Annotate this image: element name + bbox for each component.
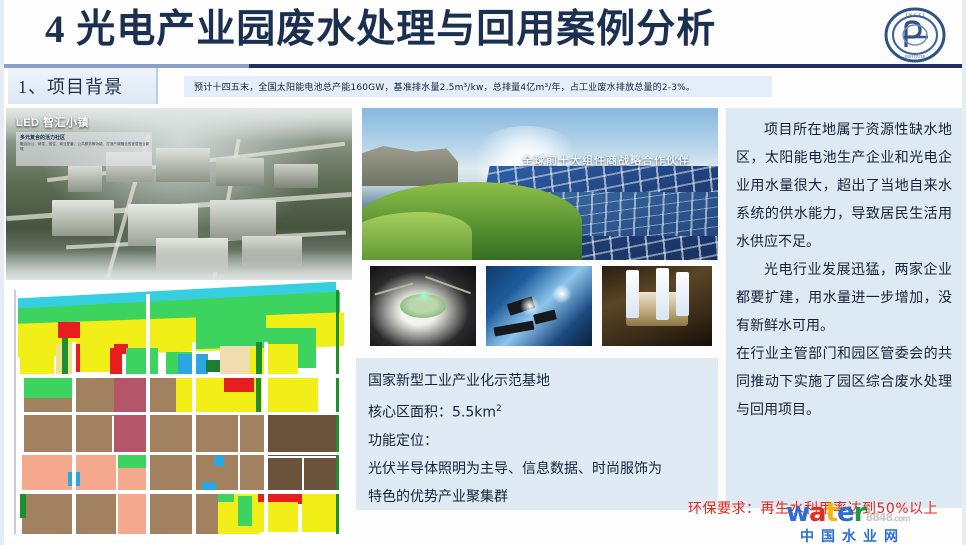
zoning-block (206, 360, 220, 372)
aerial-building-cluster (216, 158, 264, 186)
land-use-zoning-map (6, 282, 352, 540)
solar-farm-image: 全球前十大组件商战略合作伙伴 (362, 108, 718, 260)
zoning-block (20, 344, 54, 378)
info-line-function-1: 光伏半导体照明为主导、信息数据、时尚服饰为 (356, 454, 718, 482)
light-spark (520, 296, 540, 316)
zoning-block (114, 416, 146, 454)
aerial-building-cluster (274, 164, 318, 188)
led-lens-post (626, 270, 639, 318)
light-spark (552, 284, 572, 304)
led-wafer-probe-photo (370, 266, 476, 346)
svg-text:I N C E I: I N C E I (906, 14, 925, 19)
title-row: 4 光电产业园废水处理与回用案例分析 I N C E I INSTITUTE (0, 4, 966, 58)
zoning-block-red (58, 322, 80, 338)
aerial-image-caption: LED 智汇小镇 (16, 114, 89, 130)
background-paragraph-2: 光电行业发展迅猛，两家企业都要扩建，用水量进一步增加，没有新鲜水可用。 (726, 256, 962, 340)
slide-left-edge (0, 0, 4, 545)
zoning-block (118, 494, 146, 534)
zoning-block (118, 468, 146, 492)
zoning-block (304, 458, 338, 494)
slide-right-edge (962, 0, 966, 545)
watermark-site-name: 中国水业网 (800, 526, 905, 546)
info-area-text: 核心区面积：5.5km (368, 405, 496, 421)
zoning-block (268, 412, 338, 456)
info-line-function-2: 特色的优势产业聚集群 (356, 482, 718, 510)
zoning-block (22, 494, 74, 516)
zoning-block (264, 344, 298, 378)
aerial-building-cluster (156, 148, 210, 182)
circular-institute-logo: I N C E I INSTITUTE (884, 7, 946, 63)
led-package-closeup-photo (602, 266, 712, 346)
zoning-block (150, 414, 194, 454)
info-area-sup: 2 (496, 404, 502, 414)
zoning-block (24, 414, 72, 452)
zoning-block (302, 490, 338, 532)
aerial-building-cluster (68, 166, 102, 192)
section-tab-label: 1、项目背景 (8, 73, 123, 99)
led-chip-bonding-photo (486, 266, 592, 346)
slide-canvas: 4 光电产业园废水处理与回用案例分析 I N C E I INSTITUTE 1… (0, 0, 966, 545)
grass-hill-front (362, 212, 472, 260)
page-title: 4 光电产业园废水处理与回用案例分析 (45, 4, 875, 56)
aerial-subcaption-title: 多元复合的活力社区 (16, 132, 152, 141)
aerial-subcaption-text: 融合办公、研发、居住、商业配套、公共服务等功能，打造产城融合的宜居宜业新城 (16, 141, 152, 152)
zoning-block (196, 414, 238, 454)
zoning-block (150, 454, 194, 492)
zoning-block-red (224, 378, 254, 392)
background-paragraph-1: 项目所在地属于资源性缺水地区，太阳能电池生产企业和光电企业用水量很大，超出了当地… (726, 108, 962, 256)
info-line-base: 国家新型工业产业化示范基地 (356, 358, 718, 394)
zoning-block (264, 378, 318, 416)
statistics-banner-text: 预计十四五末，全国太阳能电池总产能160GW，基准排水量2.5m³/kw，总排量… (184, 80, 695, 93)
section-tab-project-background[interactable]: 1、项目背景 (8, 68, 158, 104)
zoning-road (16, 452, 342, 455)
aerial-image-subcaption-box: 多元复合的活力社区 融合办公、研发、居住、商业配套、公共服务等功能，打造产城融合… (16, 132, 152, 166)
solar-image-caption: 全球前十大组件商战略合作伙伴 (522, 152, 718, 168)
probe-needle (374, 283, 413, 296)
zoning-block (80, 344, 114, 372)
zoning-block (22, 454, 74, 492)
zoning-greenline (20, 494, 26, 518)
zoning-block (114, 378, 146, 416)
probe-needle (425, 276, 471, 294)
zoning-block (22, 514, 74, 534)
circuit-board (494, 321, 535, 337)
zoning-block (76, 494, 116, 534)
zoning-block (268, 458, 302, 494)
statistics-banner: 预计十四五末，全国太阳能电池总产能160GW，基准排水量2.5m³/kw，总排量… (184, 76, 772, 97)
zoning-block-red (110, 348, 122, 374)
zoning-block (76, 414, 112, 452)
zoning-road (16, 490, 342, 494)
background-text-panel: 项目所在地属于资源性缺水地区，太阳能电池生产企业和光电企业用水量很大，超出了当地… (726, 108, 962, 508)
svg-text:INSTITUTE: INSTITUTE (905, 54, 926, 59)
zoning-block (76, 454, 116, 492)
zoning-block (176, 378, 224, 416)
zoning-road (146, 294, 150, 534)
zoning-road (264, 342, 268, 534)
zoning-road (16, 374, 342, 378)
zoning-road (16, 412, 342, 415)
led-lens-post (676, 272, 689, 316)
zoning-water-block (214, 456, 224, 466)
site-watermark: water8848.com 中国水业网 (786, 500, 962, 544)
zoning-block (240, 414, 266, 454)
led-glow (418, 290, 430, 302)
aerial-fog-bottom (6, 250, 352, 280)
info-line-area: 核心区面积：5.5km2 (356, 394, 718, 426)
led-town-aerial-image: LED 智汇小镇 多元复合的活力社区 融合办公、研发、居住、商业配套、公共服务等… (6, 108, 352, 280)
info-line-function-label: 功能定位： (356, 426, 718, 454)
zoning-block (126, 348, 158, 374)
led-lens-post (656, 268, 669, 320)
background-paragraph-3: 在行业主管部门和园区管委会的共同推动下实施了园区综合废水处理与回用项目。 (726, 340, 962, 424)
aerial-building-cluster (210, 200, 276, 240)
park-info-box: 国家新型工业产业化示范基地 核心区面积：5.5km2 功能定位： 光伏半导体照明… (356, 358, 718, 510)
cliff-shape (362, 146, 458, 186)
zoning-block (240, 454, 266, 492)
zoning-road (192, 342, 196, 534)
zoning-road (72, 342, 76, 534)
zoning-block (150, 494, 194, 534)
zoning-block (238, 496, 252, 526)
aerial-building-cluster (52, 200, 114, 236)
